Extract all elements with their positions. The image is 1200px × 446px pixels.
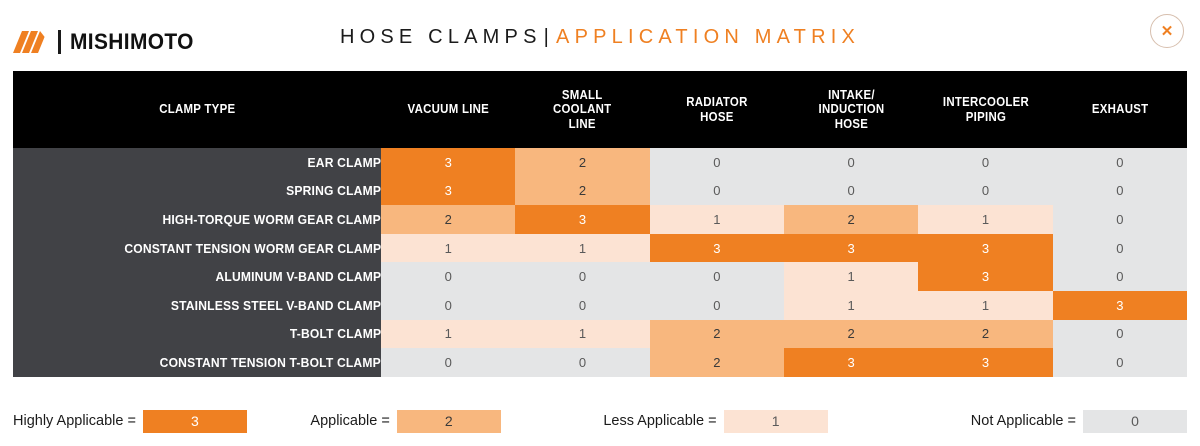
legend-item-3: Highly Applicable =3 bbox=[13, 410, 247, 433]
close-button[interactable]: ✕ bbox=[1150, 14, 1184, 48]
matrix-cell-r2-c5: 0 bbox=[1053, 205, 1187, 234]
matrix-cell-r4-c4: 3 bbox=[918, 262, 1052, 291]
matrix-cell-r1-c1: 2 bbox=[515, 177, 649, 206]
matrix-cell-r5-c0: 0 bbox=[381, 291, 515, 320]
matrix-cell-r4-c2: 0 bbox=[650, 262, 784, 291]
matrix-cell-r0-c0: 3 bbox=[381, 148, 515, 177]
legend-swatch: 3 bbox=[143, 410, 247, 433]
matrix-cell-r7-c0: 0 bbox=[381, 348, 515, 377]
matrix-cell-r5-c3: 1 bbox=[784, 291, 918, 320]
column-header-label: VACUUM LINE bbox=[407, 102, 489, 117]
legend-swatch: 0 bbox=[1083, 410, 1187, 433]
page-title: HOSE CLAMPS|APPLICATION MATRIX bbox=[0, 26, 1200, 49]
matrix-cell-r1-c0: 3 bbox=[381, 177, 515, 206]
table-row: STAINLESS STEEL V-BAND CLAMP000113 bbox=[13, 291, 1187, 320]
matrix-cell-r7-c4: 3 bbox=[918, 348, 1052, 377]
column-header-4: INTERCOOLERPIPING bbox=[918, 71, 1052, 148]
matrix-cell-r3-c1: 1 bbox=[515, 234, 649, 263]
matrix-cell-r2-c3: 2 bbox=[784, 205, 918, 234]
legend-swatch: 1 bbox=[724, 410, 828, 433]
matrix-cell-r6-c3: 2 bbox=[784, 320, 918, 349]
matrix-cell-r1-c2: 0 bbox=[650, 177, 784, 206]
legend-item-0: Not Applicable =0 bbox=[971, 410, 1187, 433]
column-header-label: EXHAUST bbox=[1092, 102, 1149, 117]
matrix-cell-r3-c4: 3 bbox=[918, 234, 1052, 263]
column-header-label: INTERCOOLERPIPING bbox=[942, 95, 1028, 124]
matrix-head: CLAMP TYPE VACUUM LINESMALLCOOLANTLINERA… bbox=[13, 71, 1187, 148]
matrix-cell-r2-c4: 1 bbox=[918, 205, 1052, 234]
page-title-accent: APPLICATION MATRIX bbox=[556, 26, 860, 48]
column-header-label: CLAMP TYPE bbox=[159, 102, 235, 117]
column-header-0: VACUUM LINE bbox=[381, 71, 515, 148]
matrix-cell-r4-c5: 0 bbox=[1053, 262, 1187, 291]
matrix-cell-r6-c2: 2 bbox=[650, 320, 784, 349]
matrix-cell-r1-c5: 0 bbox=[1053, 177, 1187, 206]
column-header-label: INTAKE/INDUCTIONHOSE bbox=[818, 88, 884, 132]
column-header-3: INTAKE/INDUCTIONHOSE bbox=[784, 71, 918, 148]
matrix-cell-r0-c2: 0 bbox=[650, 148, 784, 177]
matrix-cell-r7-c5: 0 bbox=[1053, 348, 1187, 377]
matrix-cell-r2-c0: 2 bbox=[381, 205, 515, 234]
matrix-cell-r0-c5: 0 bbox=[1053, 148, 1187, 177]
table-row: CONSTANT TENSION T-BOLT CLAMP002330 bbox=[13, 348, 1187, 377]
row-label-text: SPRING CLAMP bbox=[286, 183, 381, 198]
row-label-1: SPRING CLAMP bbox=[13, 177, 381, 206]
application-matrix: CLAMP TYPE VACUUM LINESMALLCOOLANTLINERA… bbox=[13, 71, 1187, 377]
matrix-body: EAR CLAMP320000SPRING CLAMP320000HIGH-TO… bbox=[13, 148, 1187, 377]
matrix-cell-r2-c1: 3 bbox=[515, 205, 649, 234]
column-header-1: SMALLCOOLANTLINE bbox=[515, 71, 649, 148]
matrix-cell-r4-c3: 1 bbox=[784, 262, 918, 291]
row-label-5: STAINLESS STEEL V-BAND CLAMP bbox=[13, 291, 381, 320]
matrix-cell-r7-c3: 3 bbox=[784, 348, 918, 377]
matrix-cell-r5-c1: 0 bbox=[515, 291, 649, 320]
column-header-label: RADIATORHOSE bbox=[686, 95, 747, 124]
legend-item-2: Applicable =2 bbox=[310, 410, 500, 433]
legend-item-1: Less Applicable =1 bbox=[603, 410, 827, 433]
matrix-cell-r0-c3: 0 bbox=[784, 148, 918, 177]
matrix-cell-r6-c5: 0 bbox=[1053, 320, 1187, 349]
matrix-cell-r7-c1: 0 bbox=[515, 348, 649, 377]
table-row: CONSTANT TENSION WORM GEAR CLAMP113330 bbox=[13, 234, 1187, 263]
matrix-cell-r0-c4: 0 bbox=[918, 148, 1052, 177]
legend-label: Not Applicable = bbox=[971, 413, 1076, 429]
row-label-0: EAR CLAMP bbox=[13, 148, 381, 177]
row-label-2: HIGH-TORQUE WORM GEAR CLAMP bbox=[13, 205, 381, 234]
column-header-5: EXHAUST bbox=[1053, 71, 1187, 148]
header-row: CLAMP TYPE VACUUM LINESMALLCOOLANTLINERA… bbox=[13, 71, 1187, 148]
page-header: MISHIMOTO HOSE CLAMPS|APPLICATION MATRIX… bbox=[0, 0, 1200, 71]
matrix-cell-r0-c1: 2 bbox=[515, 148, 649, 177]
matrix-cell-r6-c4: 2 bbox=[918, 320, 1052, 349]
matrix-cell-r1-c3: 0 bbox=[784, 177, 918, 206]
page-title-main: HOSE CLAMPS bbox=[340, 26, 542, 48]
row-label-text: CONSTANT TENSION T-BOLT CLAMP bbox=[160, 355, 381, 370]
row-label-text: T-BOLT CLAMP bbox=[290, 326, 381, 341]
column-header-clamp-type: CLAMP TYPE bbox=[13, 71, 381, 148]
matrix-cell-r1-c4: 0 bbox=[918, 177, 1052, 206]
legend-label: Applicable = bbox=[310, 413, 389, 429]
matrix-cell-r7-c2: 2 bbox=[650, 348, 784, 377]
matrix-cell-r5-c2: 0 bbox=[650, 291, 784, 320]
row-label-7: CONSTANT TENSION T-BOLT CLAMP bbox=[13, 348, 381, 377]
matrix-cell-r5-c4: 1 bbox=[918, 291, 1052, 320]
page-title-separator: | bbox=[542, 26, 556, 48]
matrix-cell-r3-c0: 1 bbox=[381, 234, 515, 263]
column-header-label: SMALLCOOLANTLINE bbox=[553, 88, 611, 132]
legend-label: Highly Applicable = bbox=[13, 413, 136, 429]
row-label-4: ALUMINUM V-BAND CLAMP bbox=[13, 262, 381, 291]
matrix-cell-r4-c0: 0 bbox=[381, 262, 515, 291]
row-label-text: EAR CLAMP bbox=[308, 155, 382, 170]
table-row: EAR CLAMP320000 bbox=[13, 148, 1187, 177]
matrix-table: CLAMP TYPE VACUUM LINESMALLCOOLANTLINERA… bbox=[13, 71, 1187, 377]
matrix-cell-r2-c2: 1 bbox=[650, 205, 784, 234]
table-row: ALUMINUM V-BAND CLAMP000130 bbox=[13, 262, 1187, 291]
column-header-2: RADIATORHOSE bbox=[650, 71, 784, 148]
row-label-text: HIGH-TORQUE WORM GEAR CLAMP bbox=[163, 212, 381, 227]
table-row: SPRING CLAMP320000 bbox=[13, 177, 1187, 206]
row-label-text: ALUMINUM V-BAND CLAMP bbox=[215, 269, 381, 284]
legend: Highly Applicable =3Applicable =2Less Ap… bbox=[13, 405, 1187, 437]
close-icon: ✕ bbox=[1161, 24, 1174, 39]
row-label-text: STAINLESS STEEL V-BAND CLAMP bbox=[171, 298, 381, 313]
table-row: T-BOLT CLAMP112220 bbox=[13, 320, 1187, 349]
row-label-text: CONSTANT TENSION WORM GEAR CLAMP bbox=[124, 241, 381, 256]
table-row: HIGH-TORQUE WORM GEAR CLAMP231210 bbox=[13, 205, 1187, 234]
matrix-cell-r4-c1: 0 bbox=[515, 262, 649, 291]
row-label-3: CONSTANT TENSION WORM GEAR CLAMP bbox=[13, 234, 381, 263]
legend-label: Less Applicable = bbox=[603, 413, 716, 429]
matrix-cell-r3-c5: 0 bbox=[1053, 234, 1187, 263]
matrix-cell-r6-c1: 1 bbox=[515, 320, 649, 349]
matrix-cell-r6-c0: 1 bbox=[381, 320, 515, 349]
matrix-cell-r3-c3: 3 bbox=[784, 234, 918, 263]
matrix-cell-r3-c2: 3 bbox=[650, 234, 784, 263]
row-label-6: T-BOLT CLAMP bbox=[13, 320, 381, 349]
matrix-cell-r5-c5: 3 bbox=[1053, 291, 1187, 320]
legend-swatch: 2 bbox=[397, 410, 501, 433]
